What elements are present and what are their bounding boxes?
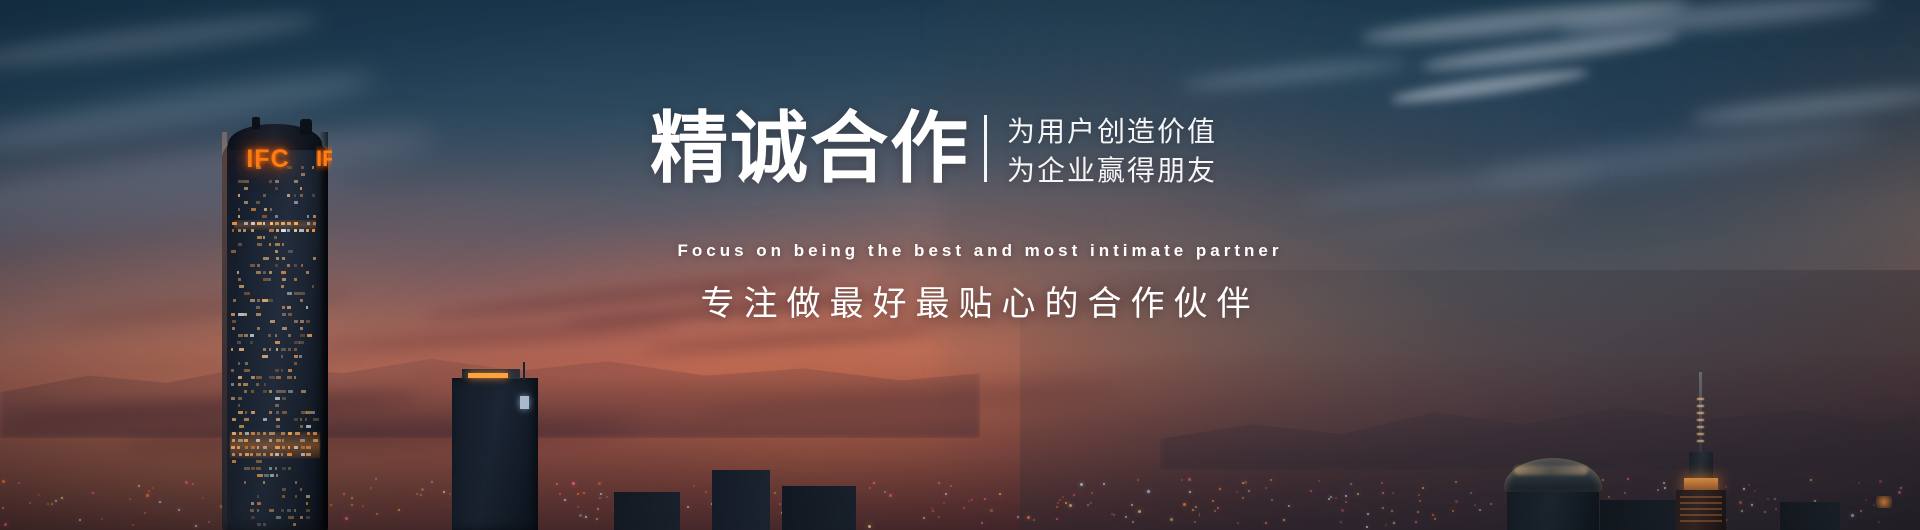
vertical-divider bbox=[984, 115, 987, 182]
hero-banner: IFC IF 精诚合作 为用户创造价值 为企业赢得朋友 Focus on bei… bbox=[0, 0, 1920, 530]
english-tagline: Focus on being the best and most intimat… bbox=[660, 241, 1300, 261]
headline-row: 精诚合作 为用户创造价值 为企业赢得朋友 bbox=[650, 108, 1217, 190]
subline-2: 为企业赢得朋友 bbox=[1007, 156, 1217, 186]
banner-headline: 精诚合作 bbox=[650, 108, 970, 190]
chinese-tagline: 专注做最好最贴心的合作伙伴 bbox=[660, 276, 1300, 325]
subline-1: 为用户创造价值 bbox=[1007, 117, 1217, 147]
headline-sublines: 为用户创造价值 为企业赢得朋友 bbox=[1007, 108, 1217, 190]
banner-text-overlay: 精诚合作 为用户创造价值 为企业赢得朋友 Focus on being the … bbox=[0, 0, 1920, 530]
